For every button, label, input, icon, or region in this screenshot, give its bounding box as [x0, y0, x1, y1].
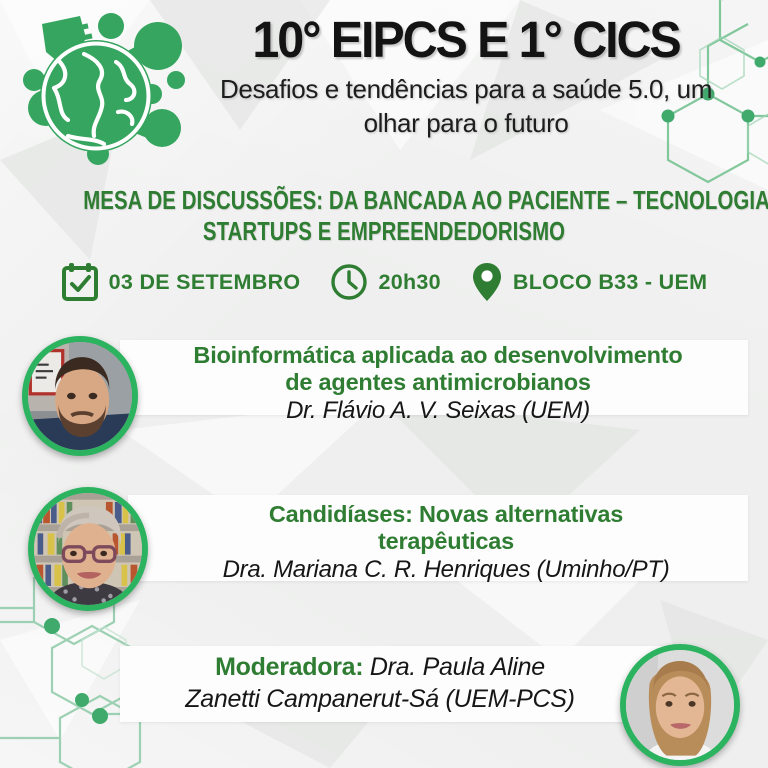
event-place-text: BLOCO B33 - UEM	[513, 270, 707, 295]
talk-1-speaker: Dr. Flávio A. V. Seixas (UEM)	[140, 397, 736, 425]
session-title-line2: STARTUPS E EMPREENDEDORISMO	[83, 217, 685, 248]
moderator-name-line2: Zanetti Campanerut-Sá (UEM-PCS)	[130, 684, 630, 716]
talk-2-title-line1: Candidíases: Novas alternativas	[150, 501, 742, 528]
event-time-text: 20h30	[378, 270, 440, 295]
header-text-block: 10° EIPCS E 1° CICS Desafios e tendência…	[196, 14, 736, 141]
speaker-photo-flavio-seixas	[22, 336, 138, 456]
event-subtitle-line2: olhar para o futuro	[196, 106, 736, 140]
poster-header: 10° EIPCS E 1° CICS Desafios e tendência…	[0, 0, 768, 176]
page-title: 10° EIPCS E 1° CICS	[210, 14, 723, 66]
clock-icon	[330, 263, 368, 301]
event-subtitle-line1: Desafios e tendências para a saúde 5.0, …	[196, 72, 736, 106]
talk-1-title-line1: Bioinformática aplicada ao desenvolvimen…	[140, 342, 736, 369]
moderator-card: Moderadora: Dra. Paula Aline Zanetti Cam…	[0, 636, 768, 768]
speaker-card-2-text: Candidíases: Novas alternativas terapêut…	[150, 501, 742, 584]
session-title: MESA DE DISCUSSÕES: DA BANCADA AO PACIEN…	[0, 186, 768, 248]
moderator-photo-paula-aline	[620, 644, 740, 766]
talk-2-speaker: Dra. Mariana C. R. Henriques (Uminho/PT)	[150, 556, 742, 584]
event-date: 03 DE SETEMBRO	[61, 262, 301, 302]
globe-flask-molecule-logo	[10, 8, 210, 168]
talk-1-title-line2: de agentes antimicrobianos	[140, 369, 736, 396]
map-pin-icon	[471, 261, 503, 303]
speaker-card-1-text: Bioinformática aplicada ao desenvolvimen…	[140, 342, 736, 425]
moderator-label: Moderadora:	[215, 653, 363, 681]
event-info-row: 03 DE SETEMBRO 20h30 BLOCO B33 - UEM	[0, 256, 768, 308]
speaker-card-1: Bioinformática aplicada ao desenvolvimen…	[0, 330, 768, 460]
session-title-line1: MESA DE DISCUSSÕES: DA BANCADA AO PACIEN…	[83, 186, 685, 217]
speaker-photo-mariana-henriques	[28, 487, 148, 611]
event-time: 20h30	[330, 263, 440, 301]
event-poster: 10° EIPCS E 1° CICS Desafios e tendência…	[0, 0, 768, 768]
moderator-name-line1: Dra. Paula Aline	[363, 653, 545, 681]
talk-2-title-line2: terapêuticas	[150, 528, 742, 555]
moderator-card-text: Moderadora: Dra. Paula Aline Zanetti Cam…	[130, 652, 630, 715]
calendar-check-icon	[61, 262, 99, 302]
event-date-text: 03 DE SETEMBRO	[109, 270, 301, 295]
speaker-card-2: Candidíases: Novas alternativas terapêut…	[0, 483, 768, 618]
event-place: BLOCO B33 - UEM	[471, 261, 707, 303]
moderator-line1: Moderadora: Dra. Paula Aline	[130, 652, 630, 684]
